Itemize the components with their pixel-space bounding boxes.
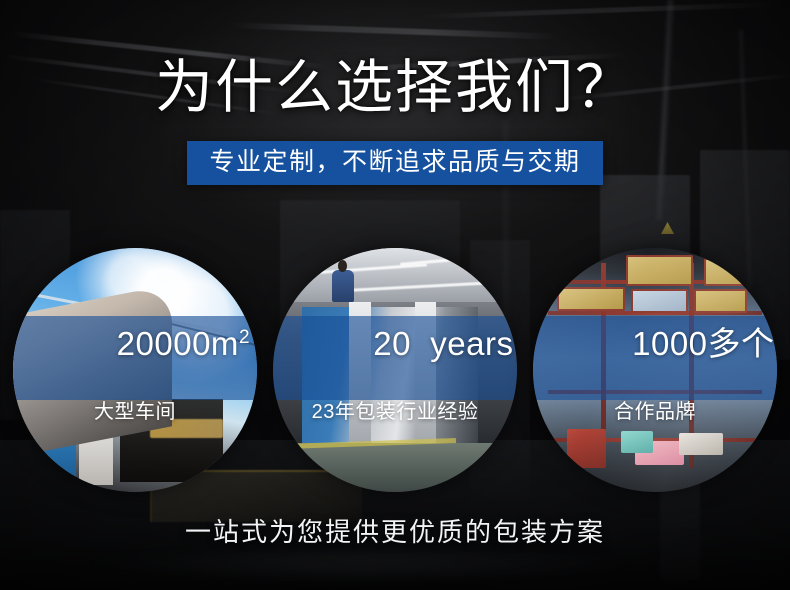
- feature-circle-partner-brands[interactable]: 1000多个 合作品牌: [533, 248, 777, 492]
- feature-number-value: 20000m: [117, 325, 239, 362]
- feature-number-value: 20 years: [373, 325, 513, 362]
- footer-tagline: 一站式为您提供更优质的包装方案: [0, 512, 790, 549]
- feature-circle-years-experience[interactable]: 20 years 23年包装行业经验: [273, 248, 517, 492]
- feature-text-partner-brands: 1000多个 合作品牌: [533, 316, 777, 400]
- feature-number: 1000多个: [535, 294, 774, 393]
- feature-number: 20 years: [277, 294, 514, 393]
- feature-number-value: 1000多个: [632, 325, 774, 362]
- subtitle-banner-wrap: 专业定制，不断追求品质与交期: [0, 141, 790, 185]
- feature-caption: 合作品牌: [614, 402, 696, 422]
- ceiling-light-strip: [230, 22, 560, 40]
- feature-circle-workshop-area[interactable]: 20000m2 大型车间: [13, 248, 257, 492]
- subtitle-banner: 专业定制，不断追求品质与交期: [187, 141, 602, 185]
- feature-caption: 23年包装行业经验: [312, 402, 479, 422]
- promo-banner: 为什么选择我们？ 专业定制，不断追求品质与交期 20000m2 大型车间: [0, 0, 790, 590]
- feature-caption: 大型车间: [94, 402, 176, 422]
- feature-text-years-experience: 20 years 23年包装行业经验: [273, 316, 517, 400]
- feature-text-workshop-area: 20000m2 大型车间: [13, 316, 257, 400]
- press-floor: [273, 443, 517, 492]
- building-blue-panel: [33, 426, 77, 480]
- building-door: [79, 421, 113, 484]
- ceiling-light-strip: [420, 2, 780, 20]
- feature-number-superscript: 2: [239, 327, 250, 348]
- feature-number: 20000m2: [20, 294, 250, 393]
- floor-highlight: [80, 544, 640, 584]
- page-title: 为什么选择我们？: [0, 58, 790, 119]
- feature-circles: 20000m2 大型车间 20 years: [0, 248, 790, 494]
